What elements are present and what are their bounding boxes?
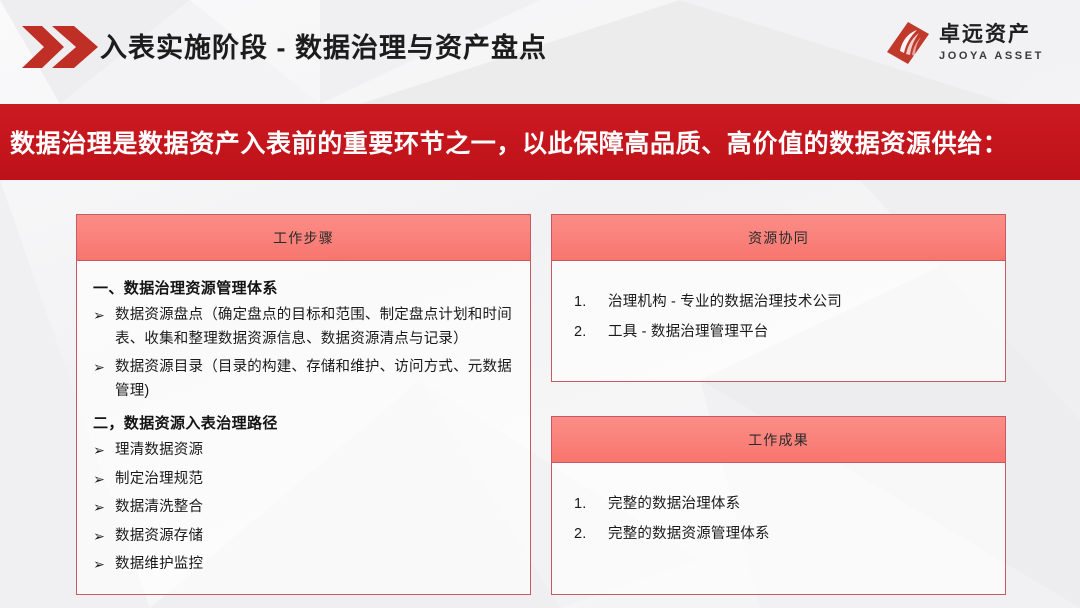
headline-banner: 数据治理是数据资产入表前的重要环节之一，以此保障高品质、高价值的数据资源供给： (0, 104, 1080, 180)
brand-logo: 卓远资产 JOOYA ASSET (886, 21, 1044, 65)
list-item-label: 理清数据资源 (115, 439, 516, 463)
arrow-bullet-icon: ➢ (91, 525, 107, 548)
page-title: 入表实施阶段 - 数据治理与资产盘点 (100, 26, 547, 70)
list-item: ➢ 数据资源存储 (91, 525, 516, 549)
section-heading: 一、数据治理资源管理体系 (93, 277, 516, 298)
panel-work-steps-title: 工作步骤 (273, 228, 334, 248)
numbered-list: 1. 治理机构 - 专业的数据治理技术公司 2. 工具 - 数据治理管理平台 (574, 287, 987, 347)
section-governance-path: 二，数据资源入表治理路径 ➢ 理清数据资源 ➢ 制定治理规范 ➢ 数据清洗整合 … (91, 412, 516, 577)
list-item-label: 数据资源目录（目录的构建、存储和维护、访问方式、元数据管理) (115, 356, 516, 403)
arrow-bullet-icon: ➢ (91, 304, 107, 327)
list-item: ➢ 数据资源盘点（确定盘点的目标和范围、制定盘点计划和时间表、收集和整理数据资源… (91, 304, 516, 351)
panel-work-outcome-body: 1. 完整的数据治理体系 2. 完整的数据资源管理体系 (552, 463, 1005, 549)
panel-work-outcome-header: 工作成果 (552, 417, 1005, 463)
list-item-number: 2. (574, 317, 592, 347)
panel-work-outcome: 工作成果 1. 完整的数据治理体系 2. 完整的数据资源管理体系 (551, 416, 1006, 595)
list-item-number: 1. (574, 287, 592, 317)
panel-work-steps-header: 工作步骤 (77, 215, 530, 261)
jooya-diamond-logo-icon (886, 21, 930, 65)
arrow-bullet-icon: ➢ (91, 496, 107, 519)
panel-work-outcome-title: 工作成果 (748, 430, 809, 450)
section-heading: 二，数据资源入表治理路径 (93, 412, 516, 433)
list-item-label: 数据资源存储 (115, 525, 516, 549)
list-item-label: 数据清洗整合 (115, 496, 516, 520)
list-item: ➢ 数据资源目录（目录的构建、存储和维护、访问方式、元数据管理) (91, 356, 516, 403)
list-item-label: 数据资源盘点（确定盘点的目标和范围、制定盘点计划和时间表、收集和整理数据资源信息… (115, 304, 516, 351)
panel-work-steps: 工作步骤 一、数据治理资源管理体系 ➢ 数据资源盘点（确定盘点的目标和范围、制定… (76, 214, 531, 595)
slide: 入表实施阶段 - 数据治理与资产盘点 卓远资产 JOOYA ASSET 数据治理… (0, 0, 1080, 608)
panel-resource-collaboration-title: 资源协同 (748, 228, 809, 248)
list-item: 2. 完整的数据资源管理体系 (574, 519, 987, 549)
list-item-label: 完整的数据治理体系 (608, 489, 987, 519)
list-item: ➢ 理清数据资源 (91, 439, 516, 463)
slide-header: 入表实施阶段 - 数据治理与资产盘点 卓远资产 JOOYA ASSET (0, 0, 1080, 104)
list-item-label: 完整的数据资源管理体系 (608, 519, 987, 549)
panel-resource-collaboration-header: 资源协同 (552, 215, 1005, 261)
panel-work-steps-body: 一、数据治理资源管理体系 ➢ 数据资源盘点（确定盘点的目标和范围、制定盘点计划和… (77, 261, 530, 577)
list-item-label: 制定治理规范 (115, 468, 516, 492)
list-item: ➢ 数据维护监控 (91, 553, 516, 577)
list-item-number: 2. (574, 519, 592, 549)
panel-resource-collaboration-body: 1. 治理机构 - 专业的数据治理技术公司 2. 工具 - 数据治理管理平台 (552, 261, 1005, 347)
brand-name-cn: 卓远资产 (939, 23, 1044, 47)
brand-name-en: JOOYA ASSET (939, 49, 1044, 64)
arrow-bullet-icon: ➢ (91, 468, 107, 491)
arrow-bullet-icon: ➢ (91, 439, 107, 462)
list-item: ➢ 制定治理规范 (91, 468, 516, 492)
list-item-label: 工具 - 数据治理管理平台 (608, 317, 987, 347)
list-item-label: 治理机构 - 专业的数据治理技术公司 (608, 287, 987, 317)
headline-banner-text: 数据治理是数据资产入表前的重要环节之一，以此保障高品质、高价值的数据资源供给： (0, 124, 1008, 160)
arrow-bullet-icon: ➢ (91, 553, 107, 576)
list-item: 2. 工具 - 数据治理管理平台 (574, 317, 987, 347)
list-item-number: 1. (574, 489, 592, 519)
section-governance-system: 一、数据治理资源管理体系 ➢ 数据资源盘点（确定盘点的目标和范围、制定盘点计划和… (91, 277, 516, 403)
panel-resource-collaboration: 资源协同 1. 治理机构 - 专业的数据治理技术公司 2. 工具 - 数据治理管… (551, 214, 1006, 382)
double-chevron-right-icon (22, 24, 100, 70)
list-item: ➢ 数据清洗整合 (91, 496, 516, 520)
arrow-bullet-icon: ➢ (91, 356, 107, 379)
list-item: 1. 完整的数据治理体系 (574, 489, 987, 519)
numbered-list: 1. 完整的数据治理体系 2. 完整的数据资源管理体系 (574, 489, 987, 549)
list-item: 1. 治理机构 - 专业的数据治理技术公司 (574, 287, 987, 317)
list-item-label: 数据维护监控 (115, 553, 516, 577)
